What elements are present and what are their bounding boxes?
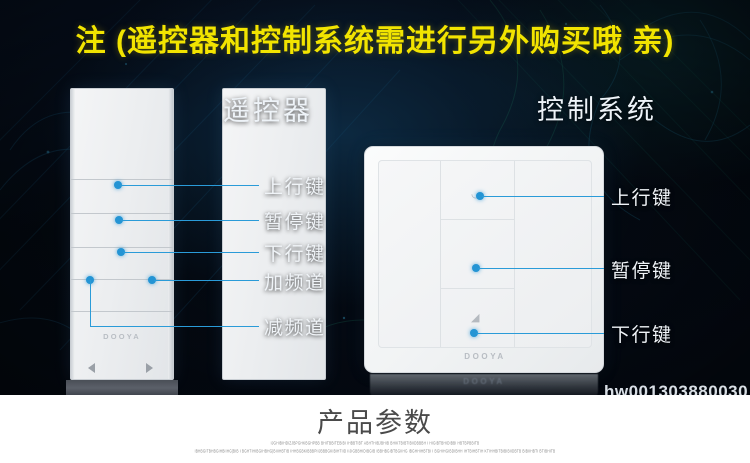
callout-label-remote-minus-channel: 减频道 — [264, 313, 326, 340]
panel-brand-reflection: DOOYA — [370, 377, 598, 386]
callout-line-remote-down — [123, 252, 259, 253]
callout-vertical-remote-minus-channel — [90, 280, 91, 326]
remote-base-shadow — [66, 380, 178, 395]
hero-dark-section: 注 (遥控器和控制系统需进行另外购买哦 亲) 遥控器 控制系统 DOOYA — [0, 0, 750, 395]
triangle-right-icon[interactable] — [146, 363, 153, 373]
control-section-heading: 控制系统 — [537, 88, 657, 127]
callout-label-remote-add-channel: 加频道 — [264, 268, 326, 295]
panel-reflection: DOOYA — [370, 374, 598, 395]
product-parameters-section: 产品参数 IJGHIBIHDIZJBPGHKBGHPBB BHITBBITEBI… — [0, 395, 750, 463]
microtext-line-2: IBHBGITBHBGIHBIIHG|BIB I BGHTIHIBGIHBHG|… — [0, 448, 750, 453]
callout-line-panel-up — [482, 196, 604, 197]
callout-line-panel-down — [476, 333, 604, 334]
product-detail-image: 注 (遥控器和控制系统需进行另外购买哦 亲) 遥控器 控制系统 DOOYA — [0, 0, 750, 463]
callout-label-panel-down: 下行键 — [611, 320, 673, 347]
callout-line-panel-pause — [478, 268, 604, 269]
control-system-panel: ◡ ◢ DOOYA DOOYA — [364, 146, 614, 395]
remote-divider — [71, 213, 173, 214]
callout-label-panel-up: 上行键 — [611, 183, 673, 210]
callout-label-remote-up: 上行键 — [264, 172, 326, 199]
callout-line-remote-up — [120, 185, 259, 186]
panel-body: ◡ ◢ DOOYA — [364, 146, 604, 373]
callout-line-remote-pause — [121, 220, 259, 221]
callout-label-panel-pause: 暂停键 — [611, 256, 673, 283]
panel-inner-frame: ◡ ◢ — [378, 160, 592, 348]
chevron-down-icon[interactable]: ◢ — [471, 313, 479, 324]
callout-label-remote-pause: 暂停键 — [264, 207, 326, 234]
panel-divider-vertical — [514, 161, 515, 347]
product-parameters-title: 产品参数 — [0, 401, 750, 440]
remote-body: DOOYA — [70, 88, 174, 380]
panel-divider-horizontal — [440, 219, 514, 220]
panel-divider-horizontal — [440, 288, 514, 289]
remote-brand-logo: DOOYA — [71, 332, 173, 341]
microtext-line-1: IJGHIBIHDIZJBPGHKBGHPBB BHITBBITEBIBI IH… — [0, 440, 750, 445]
panel-brand-logo: DOOYA — [365, 352, 605, 361]
panel-divider-vertical — [440, 161, 441, 347]
callout-line-remote-minus-channel — [90, 326, 259, 327]
remote-divider — [71, 311, 173, 312]
callout-line-remote-add-channel — [154, 280, 259, 281]
watermark-text: hw001303880030 — [604, 382, 748, 395]
remote-divider — [71, 179, 173, 180]
remote-control-device: DOOYA — [66, 88, 182, 395]
callout-label-remote-down: 下行键 — [264, 239, 326, 266]
title-band: 注 (遥控器和控制系统需进行另外购买哦 亲) — [0, 0, 750, 72]
page-title: 注 (遥控器和控制系统需进行另外购买哦 亲) — [0, 16, 750, 60]
triangle-left-icon[interactable] — [88, 363, 95, 373]
